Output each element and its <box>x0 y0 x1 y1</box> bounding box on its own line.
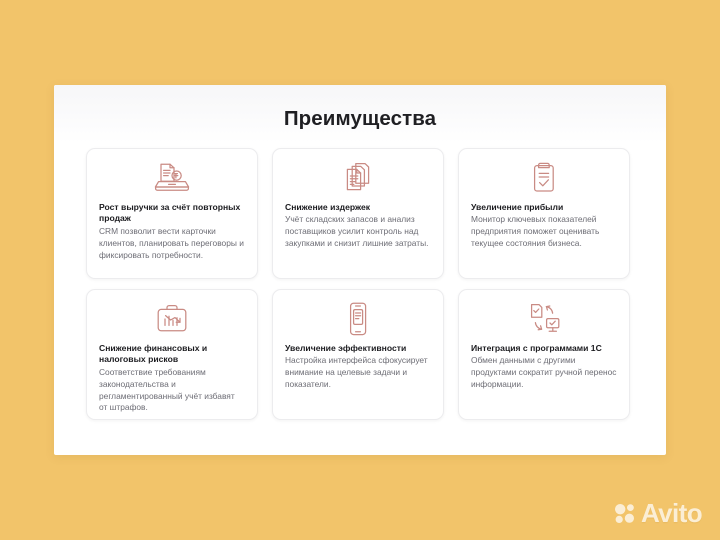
benefit-card-title: Рост выручки за счёт повторных продаж <box>99 202 245 225</box>
page-title: Преимущества <box>54 107 666 131</box>
stacked-documents-icon <box>285 159 431 197</box>
benefit-card-title: Увеличение эффективности <box>285 343 431 354</box>
data-sync-exchange-icon <box>471 300 617 338</box>
benefit-card-title: Увеличение прибыли <box>471 202 617 213</box>
avito-watermark: Avito <box>614 500 702 526</box>
benefit-card[interactable]: Рост выручки за счёт повторных продаж CR… <box>86 148 258 279</box>
avito-logo-icon <box>614 502 636 524</box>
benefit-card-title: Интеграция с программами 1С <box>471 343 617 354</box>
benefit-card-text: Учёт складских запасов и анализ поставщи… <box>285 214 431 250</box>
laptop-document-ruble-icon <box>99 159 245 197</box>
benefit-card-text: Соответствие требованиям законодательств… <box>99 367 245 415</box>
avito-wordmark: Avito <box>641 500 702 526</box>
briefcase-declining-chart-icon <box>99 300 245 338</box>
smartphone-interface-icon <box>285 300 431 338</box>
benefit-card[interactable]: Снижение издержек Учёт складских запасов… <box>272 148 444 279</box>
benefits-card-grid: Рост выручки за счёт повторных продаж CR… <box>86 148 634 420</box>
benefit-card[interactable]: Снижение финансовых и налоговых рисков С… <box>86 289 258 420</box>
benefit-card-text: CRM позволит вести карточки клиентов, пл… <box>99 226 245 262</box>
benefit-card-text: Монитор ключевых показателей предприятия… <box>471 214 617 250</box>
benefit-card-title: Снижение финансовых и налоговых рисков <box>99 343 245 366</box>
benefit-card-text: Обмен данными с другими продуктами сокра… <box>471 355 617 391</box>
clipboard-check-icon <box>471 159 617 197</box>
benefit-card-text: Настройка интерфейса сфокусирует внимани… <box>285 355 431 391</box>
benefit-card-title: Снижение издержек <box>285 202 431 213</box>
benefit-card[interactable]: Увеличение прибыли Монитор ключевых пока… <box>458 148 630 279</box>
benefit-card[interactable]: Увеличение эффективности Настройка интер… <box>272 289 444 420</box>
benefit-card[interactable]: Интеграция с программами 1С Обмен данным… <box>458 289 630 420</box>
presentation-slide-panel: Преимущества Рост выручки за счёт повтор… <box>54 85 666 455</box>
